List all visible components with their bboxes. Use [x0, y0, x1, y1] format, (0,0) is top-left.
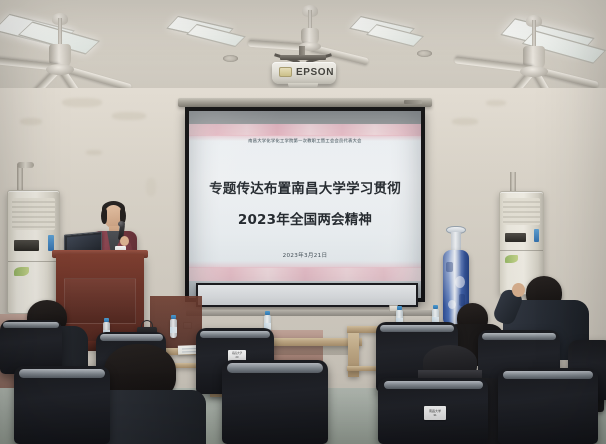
auditorium-chair: 南昌大学 31 [378, 378, 488, 444]
ac-seam [8, 261, 59, 262]
ac-grille [12, 198, 55, 230]
chair-top-bar [503, 371, 593, 379]
slide-title-line1: 专题传达布置南昌大学学习贯彻 [189, 177, 421, 197]
chair-top-bar [384, 381, 483, 388]
bottle-cap [171, 315, 176, 319]
projector-lens-icon [279, 67, 292, 77]
conference-room-photo: EPSON 南昌大学化学化工学院第一次教职工暨工会会员代表大会 专题传达布置南昌… [0, 0, 606, 444]
projector-body: EPSON [272, 62, 336, 84]
ceiling-speaker-icon [223, 55, 238, 62]
bottle-cap [104, 318, 109, 322]
chair-top-bar [100, 334, 163, 341]
projector: EPSON [272, 46, 336, 90]
fan-rod [308, 10, 312, 30]
presenter-hand [120, 236, 129, 246]
bottle-cap [265, 311, 270, 315]
projector-brand-label: EPSON [296, 67, 334, 78]
chair-top-bar [482, 333, 556, 340]
chair-top-bar [3, 322, 59, 328]
ac-display-panel [14, 240, 38, 251]
projection-screen: 南昌大学化学化工学院第一次教职工暨工会会员代表大会 专题传达布置南昌大学学习贯彻… [185, 107, 425, 302]
fan-rod [58, 18, 62, 46]
presenter-hair-side [101, 209, 107, 224]
ac-pipe [17, 162, 34, 168]
fan-hub [520, 66, 548, 77]
chair-top-bar [227, 363, 322, 372]
chair-backrest [498, 368, 598, 444]
audience-hand [512, 283, 525, 297]
screen-brand-badge [404, 100, 422, 104]
bottle-label [170, 327, 177, 333]
auditorium-chair [498, 368, 598, 444]
chair-backrest [14, 366, 110, 444]
podium-front-panel [64, 278, 136, 324]
slide-title-line2: 2023年全国两会精神 [189, 208, 421, 228]
bottle-cap [433, 305, 438, 309]
ac-seam [500, 250, 543, 251]
vase-neck [451, 232, 461, 252]
chair-top-bar [380, 325, 454, 333]
slide-bottom-decoration [189, 267, 421, 281]
fan-rod [532, 20, 536, 48]
auditorium-chair [14, 366, 110, 444]
ac-badge [48, 235, 55, 251]
bottle-cap [397, 306, 402, 310]
projector-plate [280, 55, 326, 60]
slide-date: 2023年3月21日 [189, 251, 421, 259]
chair-top-bar [19, 369, 105, 378]
ac-pipe [17, 166, 23, 190]
handbag-handle [141, 320, 153, 328]
ceiling-speaker-icon [417, 50, 432, 57]
microphone-head-icon [118, 221, 125, 227]
whiteboard-surface [198, 285, 416, 305]
water-bottle [170, 319, 177, 338]
chair-backrest [222, 360, 328, 444]
screen-roller-housing [178, 98, 432, 107]
fan-hub [46, 64, 74, 75]
slide-top-decoration [189, 124, 421, 136]
ac-badge [534, 229, 540, 242]
ac-leaf-icon [14, 267, 29, 277]
auditorium-chair [222, 360, 328, 444]
ac-grille [503, 198, 539, 225]
chair-top-bar [200, 331, 270, 338]
slide-header-text: 南昌大学化学化工学院第一次教职工暨工会会员代表大会 [189, 138, 421, 144]
ac-display-panel [505, 233, 526, 242]
chair-tag-line2: 31 [433, 413, 436, 418]
presentation-slide: 南昌大学化学化工学院第一次教职工暨工会会员代表大会 专题传达布置南昌大学学习贯彻… [189, 124, 421, 281]
ac-pipe [510, 172, 516, 192]
ac-leaf-icon [505, 255, 518, 263]
chair-seat-tag: 南昌大学 31 [424, 406, 446, 420]
whiteboard [196, 283, 418, 307]
